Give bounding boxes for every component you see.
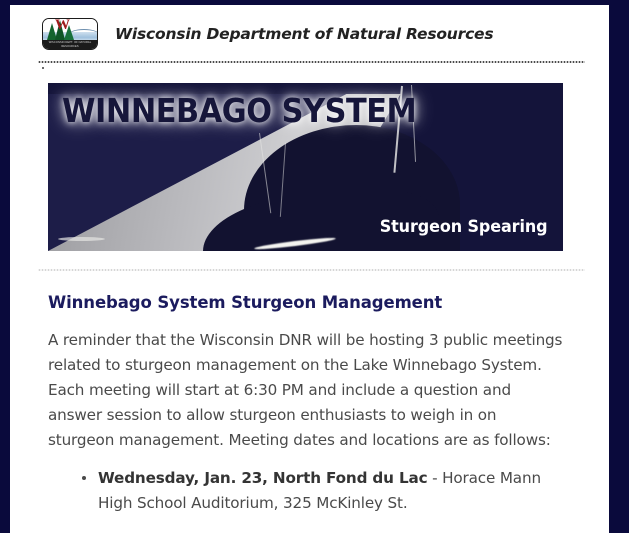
stray-dot-artifact — [42, 67, 44, 69]
logo-caption-text: WISCONSIN DEPT. OF NATURAL RESOURCES — [43, 41, 97, 49]
divider-mid-wrapper — [10, 269, 609, 271]
article-heading: Winnebago System Sturgeon Management — [48, 293, 565, 312]
banner-caption: Sturgeon Spearing — [379, 217, 547, 237]
banner-title: WINNEBAGO SYSTEM — [62, 91, 416, 130]
email-outer-frame: W WISCONSIN DEPT. OF NATURAL RESOURCES W… — [0, 0, 629, 533]
email-content-area: W WISCONSIN DEPT. OF NATURAL RESOURCES W… — [10, 5, 609, 533]
dotted-divider — [38, 269, 585, 271]
meeting-date-location: Wednesday, Jan. 23, North Fond du Lac — [98, 469, 427, 487]
dotted-divider — [38, 61, 585, 63]
article: Winnebago System Sturgeon Management A r… — [10, 293, 609, 516]
list-item: Wednesday, Jan. 23, North Fond du Lac - … — [98, 466, 565, 516]
masthead-title: Wisconsin Department of Natural Resource… — [115, 25, 493, 43]
wisconsin-dnr-logo-icon: W WISCONSIN DEPT. OF NATURAL RESOURCES — [42, 18, 98, 50]
masthead: W WISCONSIN DEPT. OF NATURAL RESOURCES W… — [10, 5, 609, 53]
ice-highlight — [58, 237, 104, 241]
divider-top-wrapper — [10, 61, 609, 69]
winnebago-system-banner-image: WINNEBAGO SYSTEM Sturgeon Spearing — [48, 83, 563, 251]
meeting-list: Wednesday, Jan. 23, North Fond du Lac - … — [48, 466, 565, 516]
logo-wordmark: W — [55, 18, 69, 32]
article-paragraph: A reminder that the Wisconsin DNR will b… — [48, 328, 565, 453]
